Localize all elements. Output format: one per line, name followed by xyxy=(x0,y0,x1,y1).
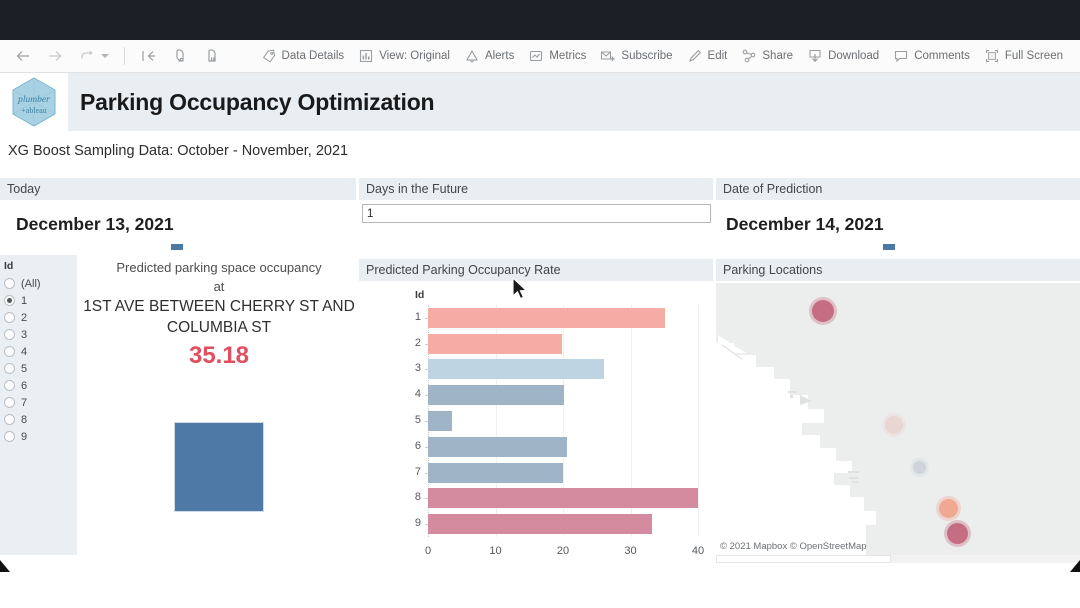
chart-axis-tick xyxy=(425,344,428,345)
chart-gridline xyxy=(698,305,699,537)
alerts-label: Alerts xyxy=(485,50,514,62)
chart-bar[interactable] xyxy=(428,437,567,457)
chart-axis-tick xyxy=(425,395,428,396)
radio-icon[interactable] xyxy=(4,397,15,408)
chart-bar[interactable] xyxy=(428,514,652,534)
days-in-future-input[interactable] xyxy=(362,204,711,223)
revert-all-icon xyxy=(140,48,156,64)
chart-axis-tick xyxy=(425,421,428,422)
kpi-line-2: at xyxy=(80,277,358,296)
id-filter-option-label: 9 xyxy=(21,431,27,443)
id-filter-option-all[interactable]: (All) xyxy=(4,275,77,292)
map-marker[interactable] xyxy=(947,523,968,544)
chart-bar-row[interactable] xyxy=(428,305,698,331)
chart-axis-tick xyxy=(425,447,428,448)
chart-bar[interactable] xyxy=(428,359,604,379)
chart-y-tick-label: 8 xyxy=(399,491,421,503)
kpi-value: 35.18 xyxy=(80,340,358,372)
chart-bar-row[interactable] xyxy=(428,408,698,434)
chart-axis-tick xyxy=(425,473,428,474)
id-filter-option-label: 4 xyxy=(21,346,27,358)
panel-header-occupancy-rate: Predicted Parking Occupancy Rate xyxy=(359,259,713,281)
share-button[interactable]: Share xyxy=(734,44,800,68)
browser-top-strip xyxy=(0,0,1080,40)
chart-bar[interactable] xyxy=(428,385,564,405)
revert-icon xyxy=(79,48,95,64)
chart-bar-row[interactable] xyxy=(428,382,698,408)
pause-icon xyxy=(204,48,220,64)
svg-text:plumber: plumber xyxy=(17,95,50,105)
panel-header-today: Today xyxy=(0,178,356,200)
comments-label: Comments xyxy=(914,50,970,62)
edit-button[interactable]: Edit xyxy=(680,44,735,68)
radio-icon[interactable] xyxy=(4,329,15,340)
frame-corner-left xyxy=(0,560,10,572)
map-scrollbar-thumb[interactable] xyxy=(716,555,891,563)
kpi-location-line-1: 1ST AVE BETWEEN CHERRY ST AND xyxy=(80,296,358,317)
chart-y-tick-label: 9 xyxy=(399,517,421,529)
refresh-icon xyxy=(172,48,188,64)
forward-icon xyxy=(47,48,63,64)
panel-header-days-future: Days in the Future xyxy=(359,178,713,200)
chart-bar[interactable] xyxy=(428,308,665,328)
occupancy-bar-chart: Id 010203040 123456789 xyxy=(359,283,713,555)
chart-y-tick-label: 4 xyxy=(399,388,421,400)
id-filter-option-label: 6 xyxy=(21,380,27,392)
map-marker[interactable] xyxy=(913,461,926,474)
chart-y-axis-title: Id xyxy=(415,289,424,301)
id-filter-option-5[interactable]: 5 xyxy=(4,360,77,377)
chart-y-tick-label: 7 xyxy=(399,466,421,478)
view-original-label: View: Original xyxy=(379,50,450,62)
comments-button[interactable]: Comments xyxy=(886,44,977,68)
id-filter-option-label: 5 xyxy=(21,363,27,375)
panel-header-date-prediction: Date of Prediction xyxy=(716,178,1080,200)
fullscreen-icon xyxy=(984,48,1000,64)
edit-label: Edit xyxy=(708,50,728,62)
chart-plot-area[interactable] xyxy=(428,305,698,537)
id-filter-option-label: 7 xyxy=(21,397,27,409)
radio-icon[interactable] xyxy=(4,278,15,289)
chart-bar-row[interactable] xyxy=(428,511,698,537)
kpi-text-block: Predicted parking space occupancy at 1ST… xyxy=(80,258,358,372)
subscribe-label: Subscribe xyxy=(621,50,672,62)
download-label: Download xyxy=(828,50,879,62)
id-filter-option-4[interactable]: 4 xyxy=(4,343,77,360)
radio-icon[interactable] xyxy=(4,363,15,374)
parking-locations-map[interactable]: © 2021 Mapbox © OpenStreetMap xyxy=(716,283,1080,555)
metrics-label: Metrics xyxy=(549,50,586,62)
map-marker[interactable] xyxy=(885,416,903,434)
today-date-value: December 13, 2021 xyxy=(16,214,174,235)
data-details-label: Data Details xyxy=(282,50,345,62)
full-screen-button[interactable]: Full Screen xyxy=(977,44,1070,68)
refresh-button[interactable] xyxy=(165,44,195,68)
pause-button[interactable] xyxy=(197,44,227,68)
chart-y-tick-label: 3 xyxy=(399,362,421,374)
chart-bar-row[interactable] xyxy=(428,485,698,511)
chart-x-tick-label: 10 xyxy=(481,545,511,557)
share-label: Share xyxy=(762,50,793,62)
map-marker[interactable] xyxy=(812,300,834,322)
download-icon xyxy=(807,48,823,64)
download-button[interactable]: Download xyxy=(800,44,886,68)
chart-bar-row[interactable] xyxy=(428,460,698,486)
tag-icon xyxy=(261,48,277,64)
id-filter-option-label: 2 xyxy=(21,312,27,324)
chart-bar[interactable] xyxy=(428,334,562,354)
map-marker[interactable] xyxy=(939,499,958,518)
alerts-button[interactable]: Alerts xyxy=(457,44,521,68)
back-icon xyxy=(15,48,31,64)
id-filter-option-8[interactable]: 8 xyxy=(4,411,77,428)
pencil-icon xyxy=(687,48,703,64)
radio-icon[interactable] xyxy=(4,431,15,442)
chart-axis-tick xyxy=(425,524,428,525)
chart-bar-row[interactable] xyxy=(428,331,698,357)
id-filter-title: Id xyxy=(4,260,77,272)
back-button[interactable] xyxy=(8,44,38,68)
dashboard-subtitle: XG Boost Sampling Data: October - Novemb… xyxy=(8,143,348,159)
view-chart-icon xyxy=(358,48,374,64)
id-filter-option-label: (All) xyxy=(21,278,41,290)
forward-button[interactable] xyxy=(40,44,70,68)
subscribe-button[interactable]: Subscribe xyxy=(593,44,679,68)
chart-x-tick-label: 20 xyxy=(548,545,578,557)
chart-bar[interactable] xyxy=(428,411,452,431)
chart-bar[interactable] xyxy=(428,463,563,483)
metrics-button[interactable]: Metrics xyxy=(521,44,593,68)
id-filter-options: (All)123456789 xyxy=(4,275,77,445)
toolbar-right-group: Data Details View: Original Alerts Metri… xyxy=(254,44,1080,68)
id-filter-option-6[interactable]: 6 xyxy=(4,377,77,394)
bell-icon xyxy=(464,48,480,64)
id-filter-option-2[interactable]: 2 xyxy=(4,309,77,326)
occupancy-square-mark[interactable] xyxy=(174,422,264,512)
id-filter-option-7[interactable]: 7 xyxy=(4,394,77,411)
chart-bar-row[interactable] xyxy=(428,434,698,460)
chart-y-tick-label: 5 xyxy=(399,414,421,426)
data-details-button[interactable]: Data Details xyxy=(254,44,352,68)
radio-icon[interactable] xyxy=(4,312,15,323)
id-filter-option-label: 3 xyxy=(21,329,27,341)
chevron-down-icon[interactable] xyxy=(101,54,109,58)
viz-toolbar: Data Details View: Original Alerts Metri… xyxy=(0,40,1080,73)
chart-bar[interactable] xyxy=(428,488,698,508)
page-title: Parking Occupancy Optimization xyxy=(68,89,434,116)
share-nodes-icon xyxy=(741,48,757,64)
id-filter-option-label: 8 xyxy=(21,414,27,426)
kpi-location-line-2: COLUMBIA ST xyxy=(80,317,358,338)
radio-icon[interactable] xyxy=(4,295,15,306)
chart-axis-tick xyxy=(425,318,428,319)
chart-x-tick-label: 40 xyxy=(683,545,713,557)
prediction-date-value: December 14, 2021 xyxy=(726,214,884,235)
chart-y-tick-label: 1 xyxy=(399,311,421,323)
dashboard-title-bar: plumber +ableau Parking Occupancy Optimi… xyxy=(0,73,1080,131)
toolbar-left-group xyxy=(0,44,227,68)
id-filter-option-label: 1 xyxy=(21,295,27,307)
id-filter-option-1[interactable]: 1 xyxy=(4,292,77,309)
full-screen-label: Full Screen xyxy=(1005,50,1063,62)
radio-icon[interactable] xyxy=(4,414,15,425)
logo-container: plumber +ableau xyxy=(0,73,68,131)
radio-icon[interactable] xyxy=(4,346,15,357)
prediction-mark xyxy=(883,244,895,250)
revert-all-button[interactable] xyxy=(133,44,163,68)
chart-x-tick-label: 30 xyxy=(616,545,646,557)
plumber-tableau-logo: plumber +ableau xyxy=(11,77,57,127)
map-attribution: © 2021 Mapbox © OpenStreetMap xyxy=(720,541,867,552)
id-filter-option-3[interactable]: 3 xyxy=(4,326,77,343)
radio-icon[interactable] xyxy=(4,380,15,391)
revert-button[interactable] xyxy=(72,44,116,68)
chart-bar-row[interactable] xyxy=(428,357,698,383)
kpi-line-1: Predicted parking space occupancy xyxy=(80,258,358,277)
view-original-button[interactable]: View: Original xyxy=(351,44,457,68)
chart-y-tick-label: 6 xyxy=(399,440,421,452)
chart-axis-tick xyxy=(425,369,428,370)
chart-x-tick-label: 0 xyxy=(413,545,443,557)
toolbar-divider xyxy=(124,47,125,65)
id-filter-panel: Id (All)123456789 xyxy=(0,255,77,555)
svg-text:+ableau: +ableau xyxy=(21,106,46,115)
today-mark xyxy=(171,244,183,250)
chart-y-tick-label: 2 xyxy=(399,337,421,349)
chart-axis-tick xyxy=(425,498,428,499)
id-filter-option-9[interactable]: 9 xyxy=(4,428,77,445)
comment-icon xyxy=(893,48,909,64)
panel-header-parking-locations: Parking Locations xyxy=(716,259,1080,281)
mouse-cursor xyxy=(511,277,529,303)
metrics-icon xyxy=(528,48,544,64)
envelope-plus-icon xyxy=(600,48,616,64)
